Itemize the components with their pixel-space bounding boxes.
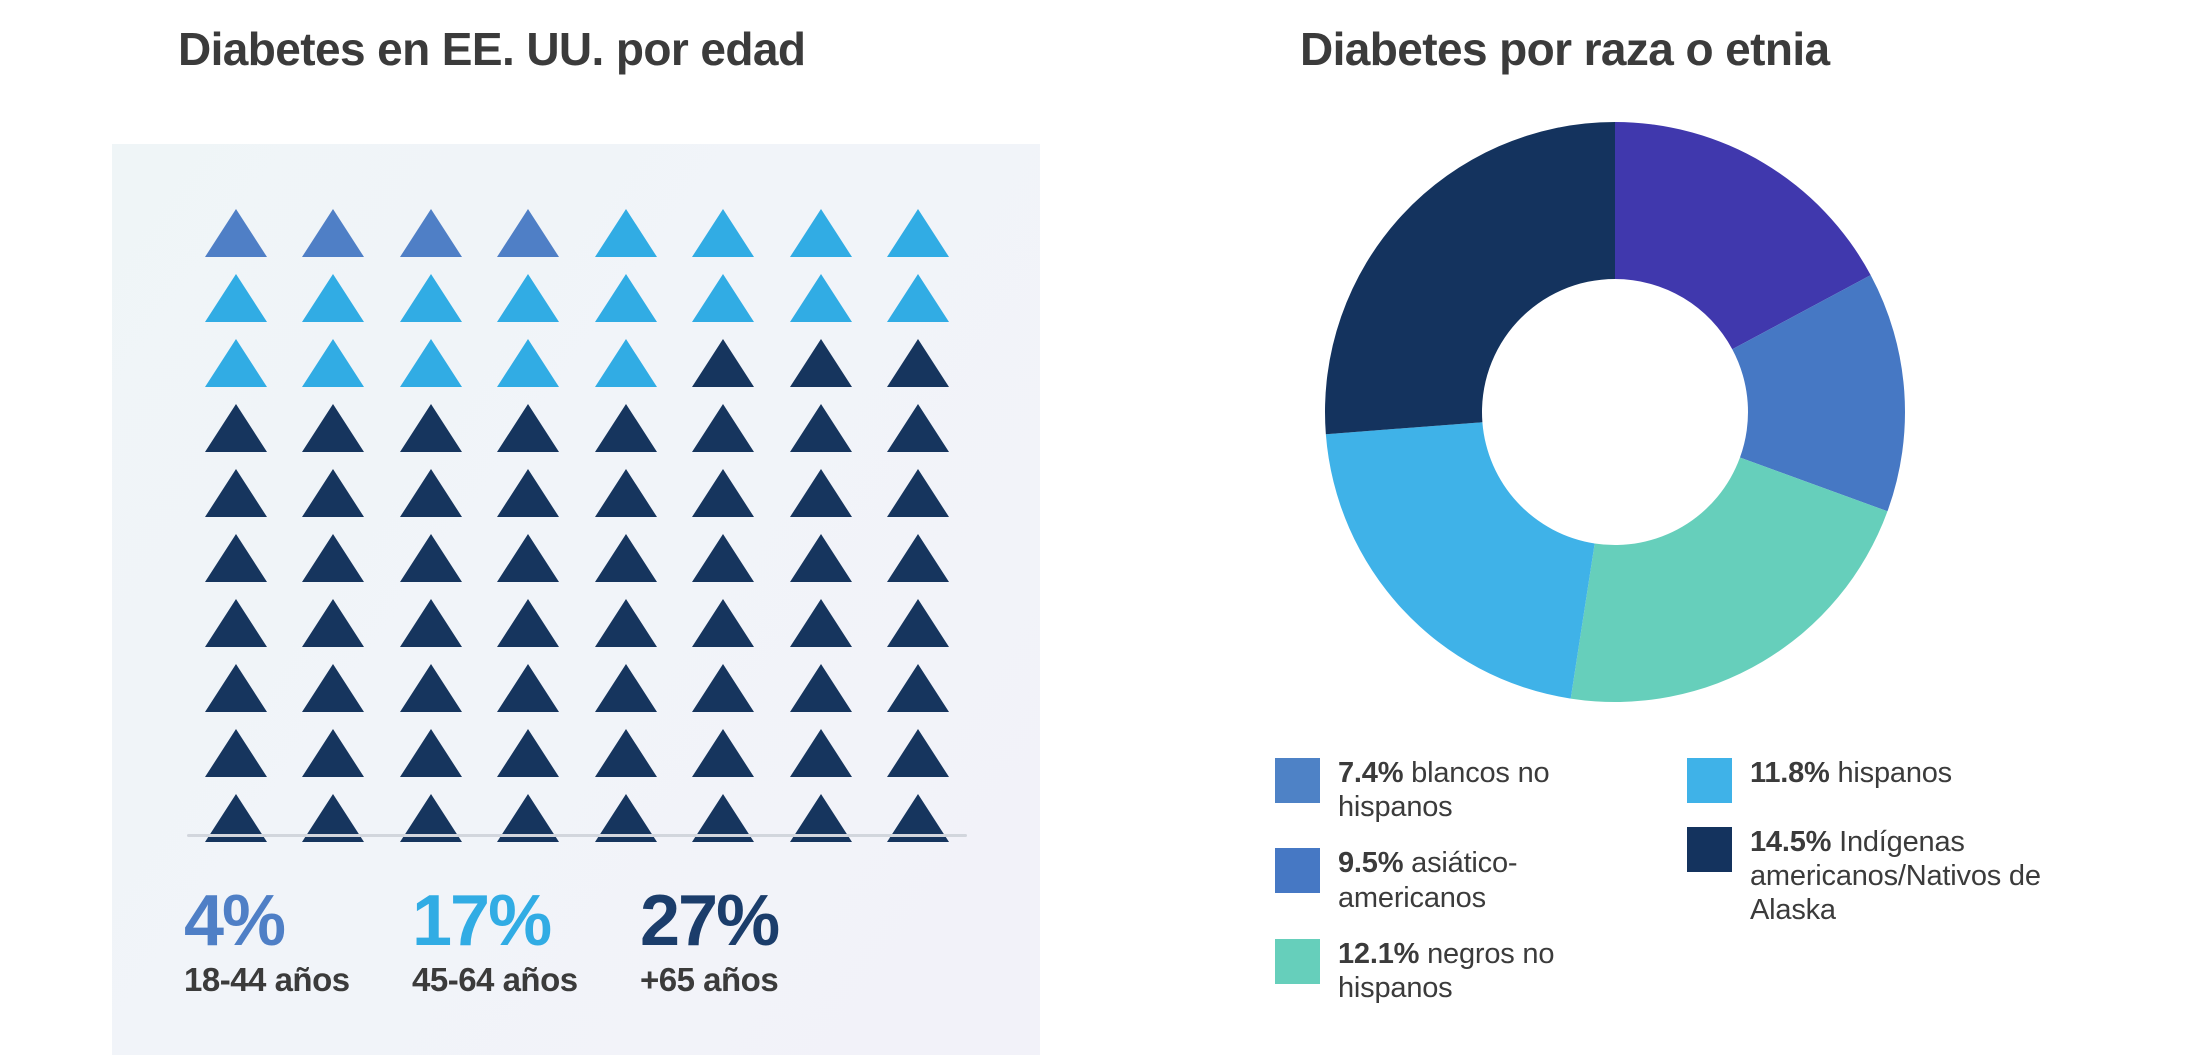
legend-label: 7.4% blancos no hispanos [1338, 756, 1635, 824]
age-stat-block: 4%18-44 años [184, 886, 412, 999]
pictogram-triangle [400, 599, 462, 647]
pictogram-triangle [497, 274, 559, 322]
legend-percentage: 14.5% [1750, 826, 1831, 858]
pictogram-triangle [205, 729, 267, 777]
pictogram-triangle [400, 404, 462, 452]
right-chart-title: Diabetes por raza o etnia [1300, 22, 1830, 76]
pictogram-triangle [595, 599, 657, 647]
pictogram-triangle [790, 729, 852, 777]
pictogram-triangle [497, 404, 559, 452]
pictogram-triangle [595, 664, 657, 712]
age-stats-row: 4%18-44 años17%45-64 años27%+65 años [184, 886, 984, 999]
legend-item: 7.4% blancos no hispanos [1275, 756, 1635, 824]
donut-segment-hispanos [1326, 422, 1595, 698]
pictogram-triangle [887, 599, 949, 647]
pictogram-triangle [692, 534, 754, 582]
pictogram-triangle [790, 664, 852, 712]
pictogram-triangle [302, 339, 364, 387]
pictogram-triangle [205, 469, 267, 517]
legend-color-swatch [1275, 758, 1320, 803]
age-stat-block: 27%+65 años [640, 886, 868, 999]
pictogram-triangle [205, 599, 267, 647]
pictogram-triangle [205, 339, 267, 387]
pictogram-triangle [302, 729, 364, 777]
pictogram-triangle [302, 469, 364, 517]
legend-color-swatch [1687, 827, 1732, 872]
legend-percentage: 12.1% [1338, 938, 1419, 970]
pictogram-triangle [790, 469, 852, 517]
legend-item: 9.5% asiático-americanos [1275, 846, 1635, 914]
pictogram-triangle [595, 339, 657, 387]
donut-chart [1315, 112, 1915, 712]
pictogram-triangle [497, 469, 559, 517]
legend-percentage: 11.8% [1750, 757, 1830, 789]
donut-segment-indigenas-americanos [1325, 122, 1615, 434]
pictogram-triangle [887, 469, 949, 517]
age-stat-label: +65 años [640, 961, 868, 999]
card-divider [187, 834, 967, 837]
age-stat-label: 18-44 años [184, 961, 412, 999]
legend-column-right: 11.8% hispanos14.5% Indígenas americanos… [1687, 756, 2117, 1005]
legend-item: 14.5% Indígenas americanos/Nativos de Al… [1687, 825, 2117, 928]
pictogram-triangle [302, 209, 364, 257]
pictogram-triangle [595, 209, 657, 257]
legend-item: 11.8% hispanos [1687, 756, 2117, 803]
pictogram-triangle [790, 599, 852, 647]
pictogram-triangle [790, 534, 852, 582]
pictogram-triangle [400, 664, 462, 712]
legend-item: 12.1% negros no hispanos [1275, 937, 1635, 1005]
pictogram-triangle [205, 664, 267, 712]
pictogram-triangle [497, 729, 559, 777]
pictogram-triangle [497, 339, 559, 387]
legend-label: 9.5% asiático-americanos [1338, 846, 1635, 914]
pictogram-triangle [692, 404, 754, 452]
pictogram-triangle [205, 274, 267, 322]
pictogram-triangle [692, 469, 754, 517]
pictogram-triangle [692, 599, 754, 647]
pictogram-triangle [790, 339, 852, 387]
legend-color-swatch [1275, 939, 1320, 984]
age-stat-value: 17% [412, 886, 640, 957]
age-chart-panel: Diabetes en EE. UU. por edad 4%18-44 año… [0, 0, 1060, 1055]
donut-chart-svg [1315, 112, 1915, 712]
pictogram-triangle [595, 469, 657, 517]
pictogram-triangle [302, 404, 364, 452]
pictogram-triangle [497, 209, 559, 257]
pictogram-triangle [205, 534, 267, 582]
legend-color-swatch [1275, 848, 1320, 893]
pictogram-triangle [790, 274, 852, 322]
pictogram-triangle [887, 209, 949, 257]
legend-column-left: 7.4% blancos no hispanos9.5% asiático-am… [1275, 756, 1635, 1005]
pictogram-grid [187, 200, 967, 850]
legend-label: 12.1% negros no hispanos [1338, 937, 1635, 1005]
pictogram-triangle [692, 274, 754, 322]
pictogram-triangle [692, 339, 754, 387]
pictogram-triangle [400, 274, 462, 322]
legend-percentage: 9.5% [1338, 847, 1403, 879]
pictogram-triangle [595, 274, 657, 322]
pictogram-triangle [595, 534, 657, 582]
pictogram-triangle [400, 729, 462, 777]
pictogram-triangle [887, 274, 949, 322]
pictogram-triangle [205, 404, 267, 452]
pictogram-triangle [302, 664, 364, 712]
pictogram-triangle [692, 664, 754, 712]
pictogram-triangle [400, 339, 462, 387]
pictogram-triangle [400, 209, 462, 257]
legend-label: 11.8% hispanos [1750, 756, 1952, 790]
legend-color-swatch [1687, 758, 1732, 803]
race-chart-panel: Diabetes por raza o etnia 7.4% blancos n… [1060, 0, 2200, 1055]
age-stat-label: 45-64 años [412, 961, 640, 999]
pictogram-triangle [692, 209, 754, 257]
legend-label: 14.5% Indígenas americanos/Nativos de Al… [1750, 825, 2117, 928]
pictogram-triangle [497, 664, 559, 712]
donut-segment-negros-no-hispanos [1571, 458, 1888, 702]
pictogram-triangle [595, 729, 657, 777]
donut-legend: 7.4% blancos no hispanos9.5% asiático-am… [1275, 756, 2175, 1005]
pictogram-triangle [497, 599, 559, 647]
pictogram-triangle [302, 534, 364, 582]
pictogram-triangle [887, 729, 949, 777]
age-stat-value: 4% [184, 886, 412, 957]
infographic-root: Diabetes en EE. UU. por edad 4%18-44 año… [0, 0, 2200, 1055]
age-chart-card: 4%18-44 años17%45-64 años27%+65 años [112, 144, 1040, 1055]
pictogram-triangle [887, 534, 949, 582]
pictogram-triangle [887, 339, 949, 387]
legend-group-name: hispanos [1830, 757, 1952, 789]
age-stat-value: 27% [640, 886, 868, 957]
pictogram-triangle [595, 404, 657, 452]
pictogram-triangle [400, 469, 462, 517]
pictogram-triangle [887, 664, 949, 712]
pictogram-triangle [400, 534, 462, 582]
pictogram-triangle [205, 209, 267, 257]
pictogram-triangle [302, 599, 364, 647]
left-chart-title: Diabetes en EE. UU. por edad [178, 22, 805, 76]
pictogram-triangle [790, 404, 852, 452]
pictogram-triangle [887, 404, 949, 452]
pictogram-triangle [302, 274, 364, 322]
pictogram-triangle [790, 209, 852, 257]
pictogram-triangle [497, 534, 559, 582]
legend-percentage: 7.4% [1338, 757, 1403, 789]
pictogram-triangle [692, 729, 754, 777]
age-stat-block: 17%45-64 años [412, 886, 640, 999]
